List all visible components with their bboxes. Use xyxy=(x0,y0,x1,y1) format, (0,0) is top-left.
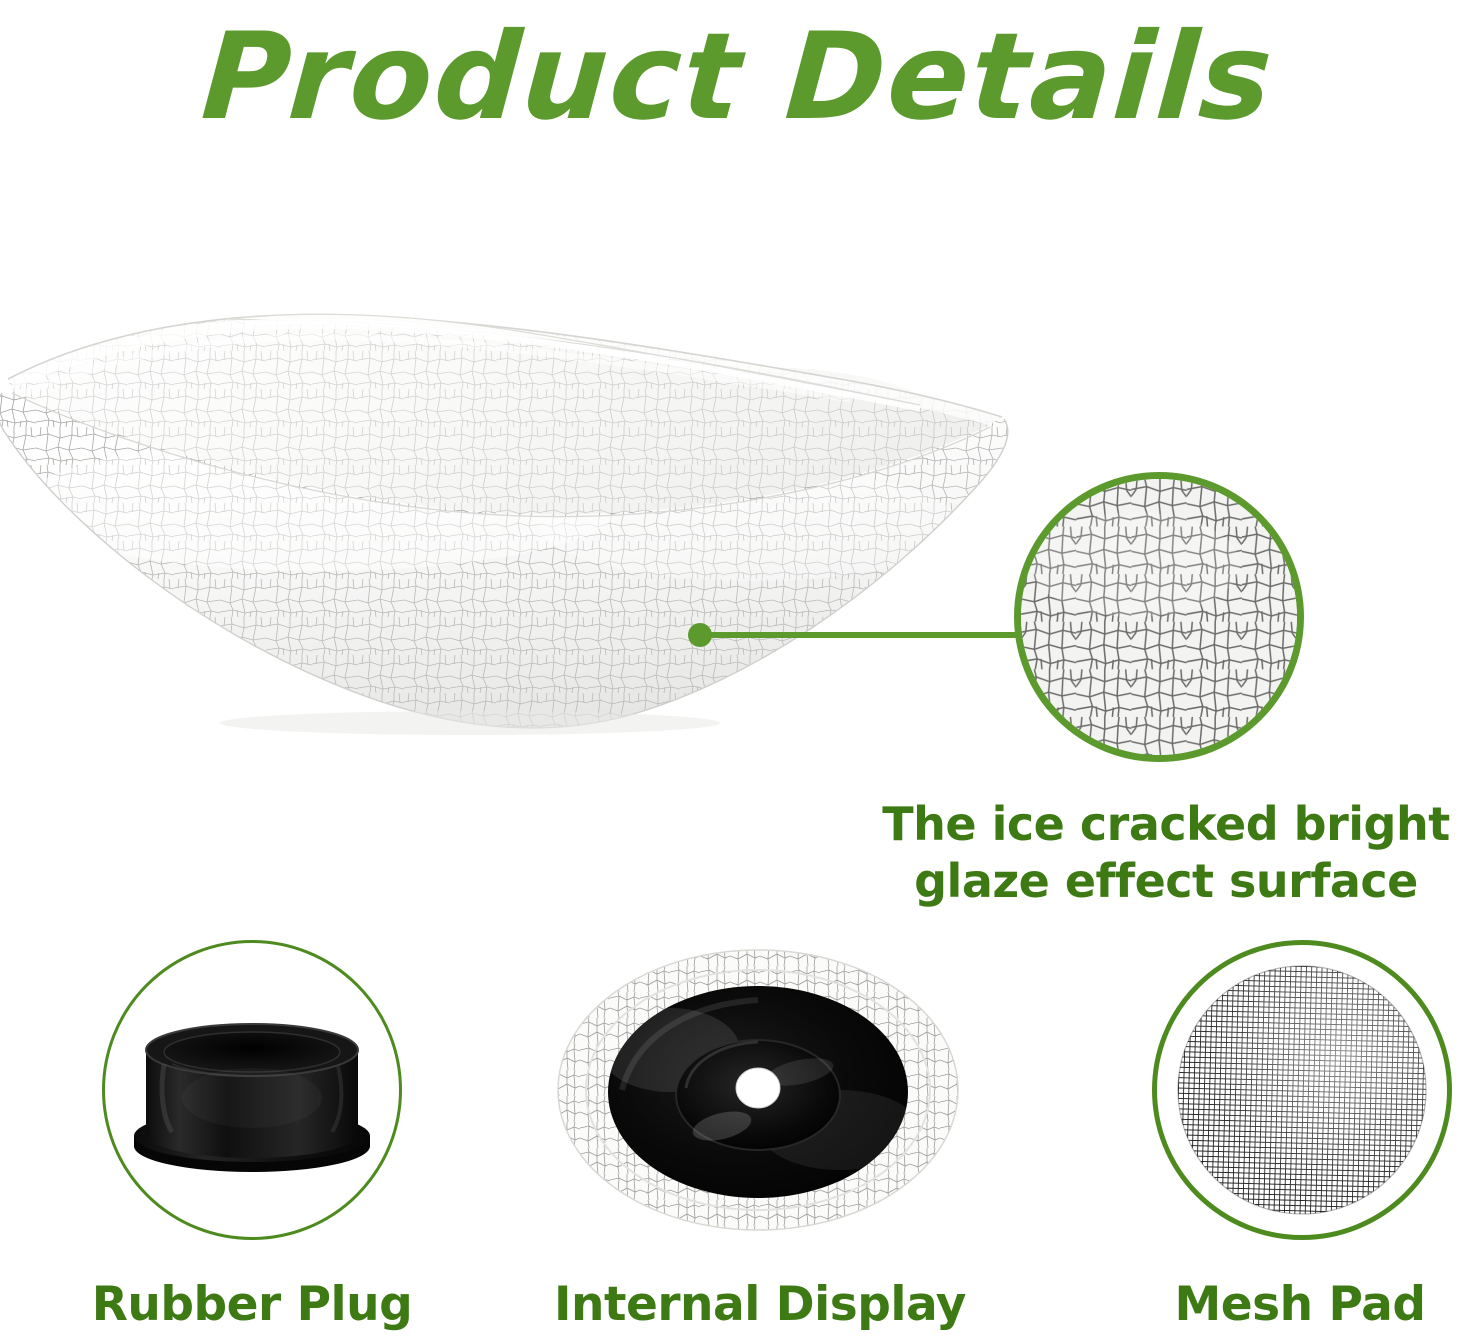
page-title: Product Details xyxy=(0,14,1476,142)
callout-caption-line-1: The ice cracked bright xyxy=(866,796,1466,853)
mesh-pad-image xyxy=(1152,940,1452,1240)
callout-caption: The ice cracked bright glaze effect surf… xyxy=(866,796,1466,910)
panel-label-mesh-pad: Mesh Pad xyxy=(1100,1277,1476,1332)
callout-caption-line-2: glaze effect surface xyxy=(866,853,1466,910)
rubber-plug-image xyxy=(102,940,402,1240)
callout-connector-line xyxy=(706,632,1028,638)
panel-mesh-pad xyxy=(1152,940,1452,1240)
callout-marker-dot xyxy=(688,623,712,647)
internal-display-image xyxy=(550,940,970,1240)
panel-label-internal-display: Internal Display xyxy=(540,1277,980,1332)
panel-rubber-plug xyxy=(102,940,402,1240)
callout-zoom-circle xyxy=(1014,472,1304,762)
hero-product-image xyxy=(0,275,1025,745)
panel-internal-display xyxy=(550,940,970,1240)
panel-label-rubber-plug: Rubber Plug xyxy=(52,1277,452,1332)
